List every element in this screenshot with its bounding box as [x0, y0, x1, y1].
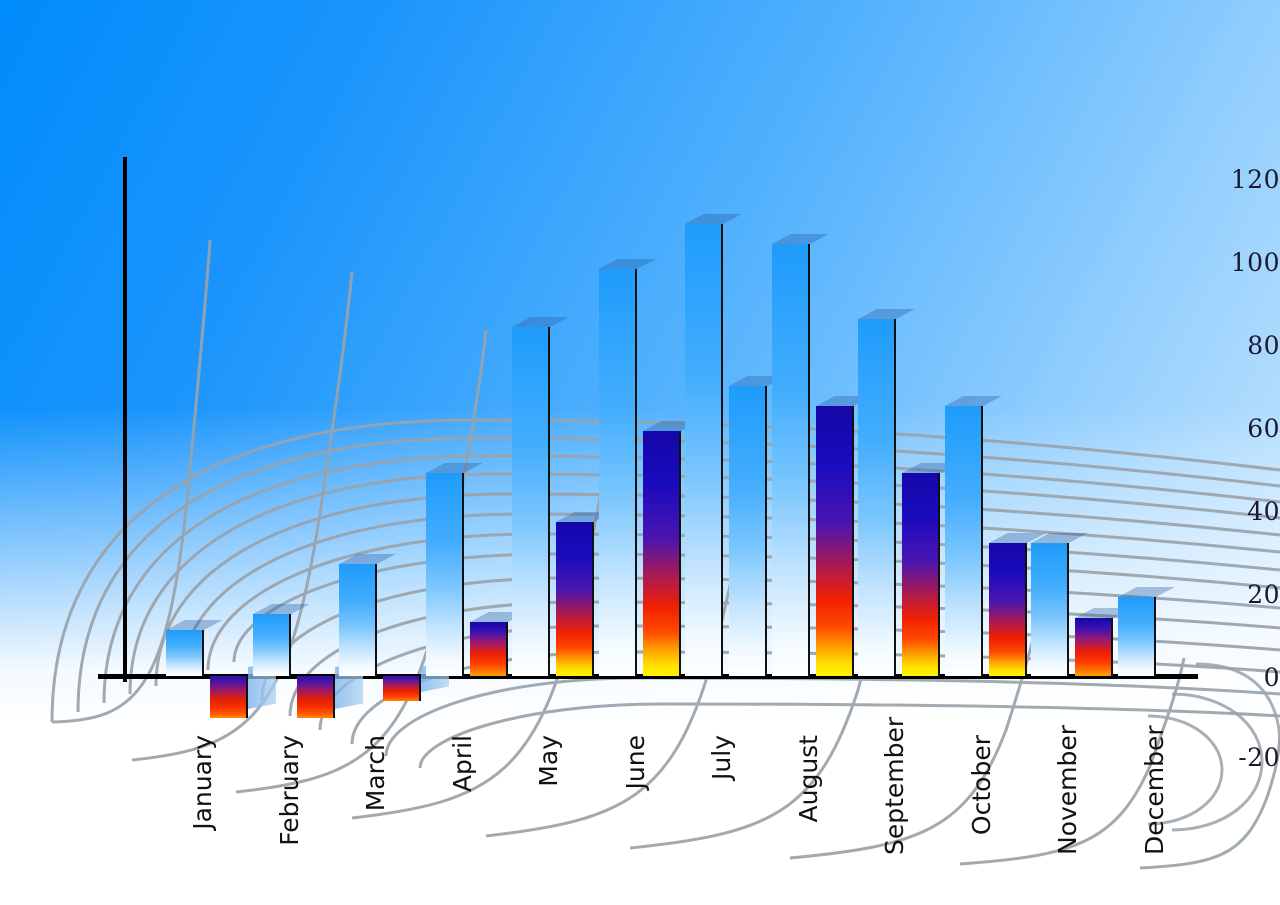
x-label-june: June: [621, 735, 650, 855]
x-label-august: August: [794, 735, 823, 855]
bar-may-series2: [556, 522, 594, 676]
x-label-january: January: [188, 735, 217, 855]
y-tick-40: 40: [1172, 499, 1280, 524]
bar-july-series1: [685, 224, 723, 676]
bar-november-series1: [1031, 543, 1069, 676]
bar-june-series1: [599, 269, 637, 676]
bar-april-series1: [426, 473, 464, 676]
bar-february-series1: [253, 614, 291, 676]
y-tick-80: 80: [1172, 333, 1280, 358]
bar-april-series2: [470, 622, 508, 676]
x-label-july: July: [707, 735, 736, 855]
y-tick-neg20: -20: [1172, 745, 1280, 770]
x-label-november: November: [1053, 735, 1082, 855]
x-label-april: April: [448, 735, 477, 855]
x-label-february: February: [275, 735, 304, 855]
bar-september-series2: [902, 473, 940, 676]
y-tick-60: 60: [1172, 416, 1280, 441]
bar-march-series2-negative: [383, 676, 421, 701]
bar-june-series2: [643, 431, 681, 676]
x-label-december: December: [1140, 735, 1169, 855]
bar-may-series1: [512, 327, 550, 676]
bar-november-series2: [1075, 618, 1113, 676]
bar-january-series2-negative: [210, 676, 248, 718]
y-axis: [123, 157, 127, 682]
y-tick-0: 0: [1172, 665, 1280, 690]
bar-october-series2: [989, 543, 1027, 676]
plot-area: 120 100 80 60 40 20 0 -20 JanuaryFebruar…: [0, 0, 1280, 905]
bar-february-series2-negative: [297, 676, 335, 718]
y-tick-100: 100: [1172, 250, 1280, 275]
bar-january-series1: [166, 630, 204, 676]
x-label-september: September: [880, 735, 909, 855]
x-label-may: May: [534, 735, 563, 855]
chart-canvas: 120 100 80 60 40 20 0 -20 JanuaryFebruar…: [0, 0, 1280, 905]
y-tick-20: 20: [1172, 582, 1280, 607]
bar-september-series1: [858, 319, 896, 676]
x-label-march: March: [361, 735, 390, 855]
bar-october-series1: [945, 406, 983, 676]
y-tick-120: 120: [1172, 167, 1280, 192]
bar-december-series1: [1118, 597, 1156, 676]
bar-august-series1: [772, 244, 810, 676]
bar-august-series2: [816, 406, 854, 676]
x-label-october: October: [967, 735, 996, 855]
bar-march-series1: [339, 564, 377, 676]
bar-july-series2: [729, 386, 767, 677]
